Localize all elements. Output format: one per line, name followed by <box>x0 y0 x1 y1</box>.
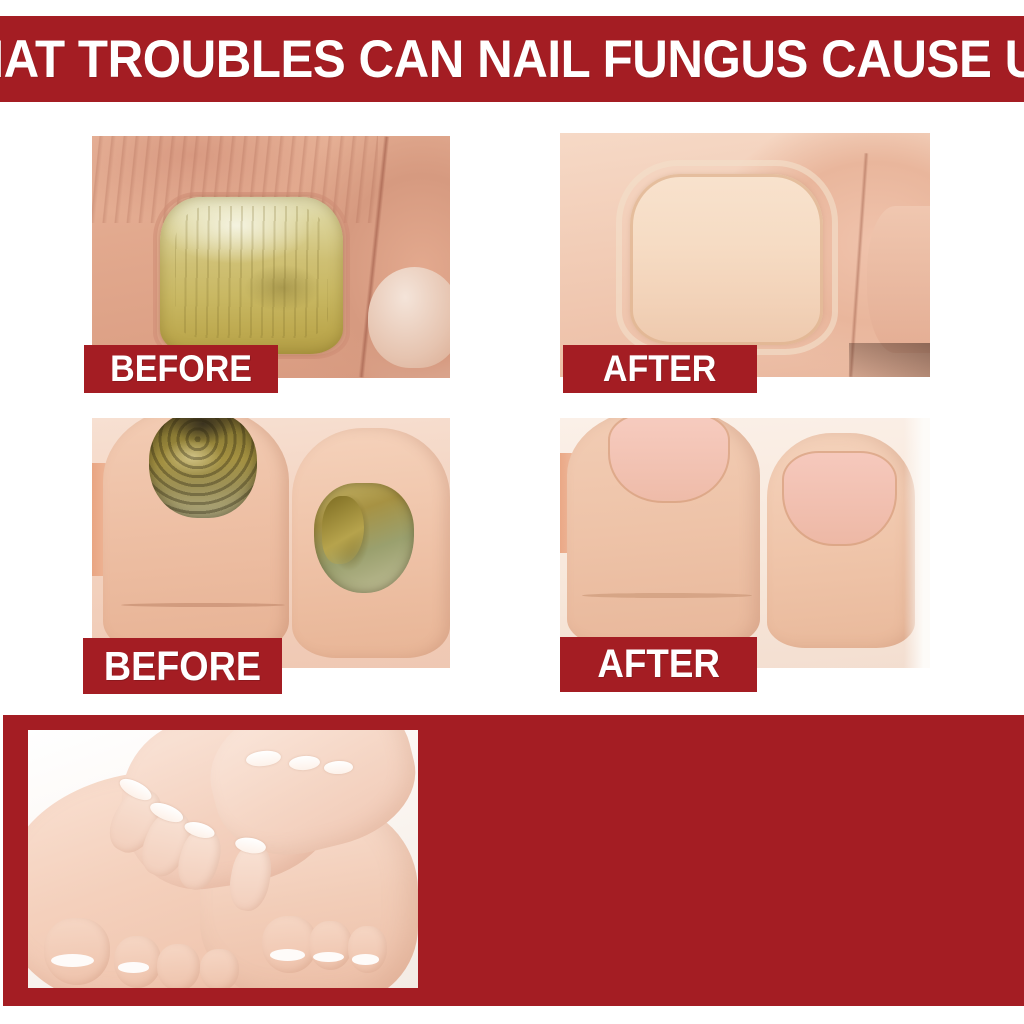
adjacent-toe <box>368 267 450 369</box>
fungal-nail-right <box>314 483 414 593</box>
shadow-corner <box>849 343 930 377</box>
toenail-tip <box>352 954 379 964</box>
healthy-nail <box>630 174 822 345</box>
toe <box>157 944 200 988</box>
before-label-2: BEFORE <box>83 638 282 694</box>
after-photo-1 <box>560 133 930 377</box>
after-label-1: AFTER <box>563 345 757 393</box>
healthy-nail-right <box>782 451 897 546</box>
before-photo-2 <box>92 418 450 668</box>
toe <box>44 918 110 985</box>
after-label-1-text: AFTER <box>603 348 716 390</box>
fungal-nail-left <box>149 418 256 518</box>
healthy-feet-photo <box>28 730 418 988</box>
before-label-1-text: BEFORE <box>110 348 252 390</box>
toe-crease <box>582 593 752 598</box>
header-banner: WHAT TROUBLES CAN NAIL FUNGUS CAUSE US? <box>0 16 1024 102</box>
product-infographic: WHAT TROUBLES CAN NAIL FUNGUS CAUSE US? … <box>0 0 1024 1024</box>
toenail-tip <box>118 962 149 972</box>
healthy-nail-left <box>608 418 730 503</box>
before-label-2-text: BEFORE <box>104 643 261 690</box>
after-label-2: AFTER <box>560 637 757 692</box>
adjacent-toe <box>867 206 930 352</box>
toenail-tip <box>313 952 344 962</box>
before-label-1: BEFORE <box>84 345 278 393</box>
toe <box>309 921 352 970</box>
after-label-2-text: AFTER <box>597 642 720 687</box>
after-photo-2 <box>560 418 930 668</box>
toenail-tip <box>270 949 305 961</box>
benefits-panel: REPAIR & RESTORES SAFE & GENTLE EASY TO … <box>3 715 1024 1006</box>
toe <box>348 926 387 972</box>
fungal-nail <box>160 197 343 354</box>
page-title: WHAT TROUBLES CAN NAIL FUNGUS CAUSE US? <box>0 29 1024 90</box>
toe <box>200 949 239 988</box>
toe-crease <box>121 603 286 607</box>
background-fade <box>904 418 930 668</box>
before-photo-1 <box>92 136 450 378</box>
